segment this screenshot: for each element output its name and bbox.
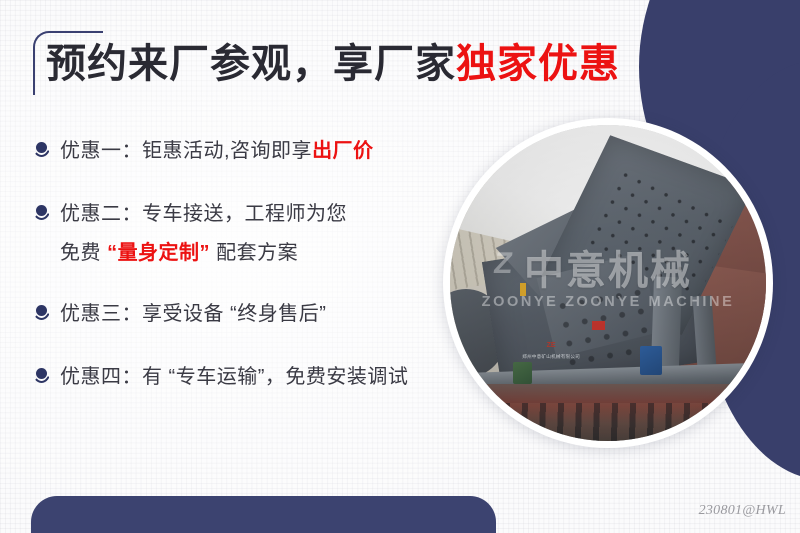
headline-plain-text: 预约来厂参观，享厂家: [46, 42, 456, 86]
page-title: 预约来厂参观，享厂家独家优惠: [46, 42, 620, 86]
benefit-list: 优惠一：钜惠活动,咨询即享出厂价 优惠二：专车接送，工程师为您 免费 “量身定制…: [30, 132, 500, 415]
benefit-3-plain: 优惠三：享受设备 “终身售后”: [60, 303, 326, 325]
headline-highlight-text: 独家优惠: [456, 42, 620, 86]
promo-banner: 预约来厂参观，享厂家独家优惠 优惠一：钜惠活动,咨询即享出厂价 优惠二：专车接送…: [0, 0, 800, 533]
benefit-2-plain: 优惠二：专车接送，工程师为您: [60, 203, 347, 225]
product-photo: ZE 郑州中意矿山机械有限公司 Z 中意机械 ZOONYE ZOONYE MAC…: [450, 125, 766, 441]
list-item: 优惠一：钜惠活动,咨询即享出厂价: [30, 132, 500, 171]
list-item: 优惠二：专车接送，工程师为您 免费 “量身定制” 配套方案: [30, 195, 500, 273]
benefit-1-highlight: 出厂价: [312, 140, 374, 162]
list-item: 优惠四：有 “专车运输”，免费安装调试: [30, 358, 500, 397]
bullet-dot-icon: [30, 136, 60, 166]
benefit-1-plain: 优惠一：钜惠活动,咨询即享: [60, 140, 312, 162]
benefit-2-line2-highlight: “量身定制”: [107, 242, 210, 264]
list-item-text: 优惠三：享受设备 “终身售后”: [60, 295, 326, 334]
bullet-dot-icon: [30, 199, 60, 229]
benefit-2-line2-plain: 免费: [60, 242, 107, 264]
benefit-2-second-line: 免费 “量身定制” 配套方案: [60, 234, 347, 273]
list-item-text: 优惠四：有 “专车运输”，免费安装调试: [60, 358, 408, 397]
bullet-dot-icon: [30, 299, 60, 329]
product-photo-circle: ZE 郑州中意矿山机械有限公司 Z 中意机械 ZOONYE ZOONYE MAC…: [443, 118, 773, 448]
navy-bottom-bar-decoration: [31, 496, 496, 533]
corner-watermark: 230801@HWL: [699, 503, 786, 519]
bullet-dot-icon: [30, 362, 60, 392]
list-item: 优惠三：享受设备 “终身售后”: [30, 295, 500, 334]
list-item-text: 优惠二：专车接送，工程师为您 免费 “量身定制” 配套方案: [60, 195, 347, 273]
list-item-text: 优惠一：钜惠活动,咨询即享出厂价: [60, 132, 374, 171]
benefit-2-line2-tail: 配套方案: [210, 242, 298, 264]
benefit-4-plain: 优惠四：有 “专车运输”，免费安装调试: [60, 366, 408, 388]
